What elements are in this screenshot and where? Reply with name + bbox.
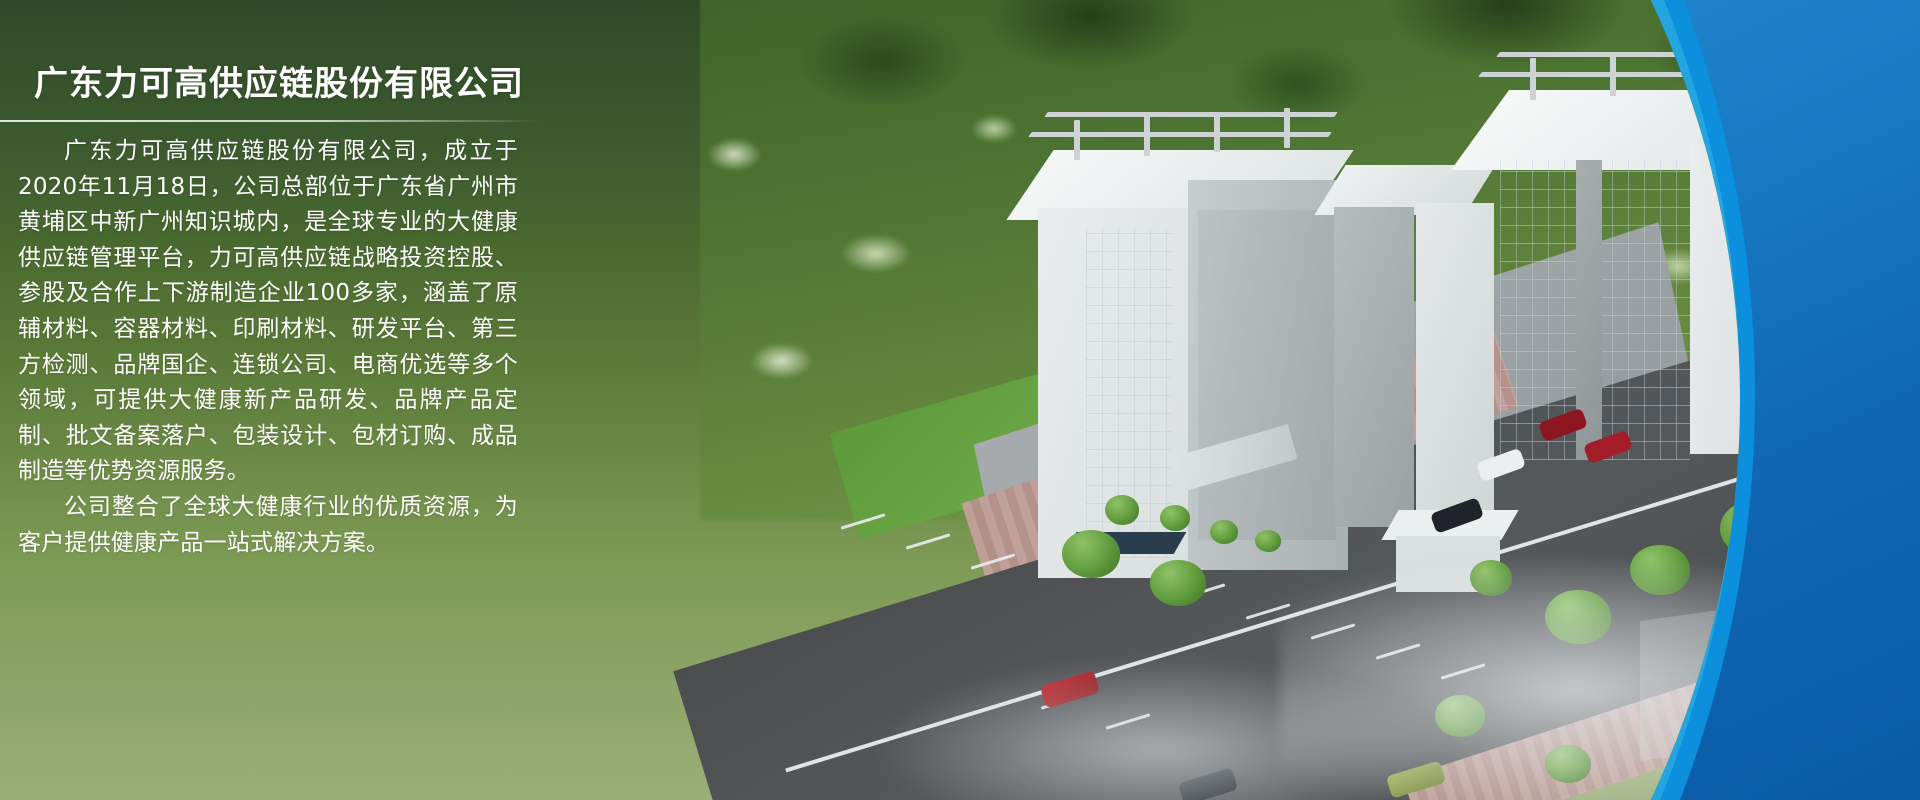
page-title: 广东力可高供应链股份有限公司 [34,56,524,105]
tree [1210,520,1238,544]
body-copy: 广东力可高供应链股份有限公司，成立于2020年11月18日，公司总部位于广东省广… [18,134,518,561]
roof-truss [1530,58,1536,100]
mist-overlay [880,660,1440,800]
tree [1062,530,1120,578]
building-c-side-face [1690,144,1740,454]
title-divider [0,120,540,122]
roof-truss [1044,112,1337,117]
roof-truss [1214,112,1220,152]
roof-truss [1690,50,1696,92]
building-a [1030,150,1360,580]
paragraph-2: 公司整合了全球大健康行业的优质资源，为客户提供健康产品一站式解决方案。 [18,490,518,561]
tree [1160,505,1190,531]
background-building [1700,20,1740,170]
building-b-face [1334,207,1414,527]
roof-truss [1284,108,1290,148]
tree [1105,495,1139,525]
building-a-side-windows [1198,210,1336,540]
paragraph-1: 广东力可高供应链股份有限公司，成立于2020年11月18日，公司总部位于广东省广… [18,134,518,490]
text-column: 广东力可高供应链股份有限公司 广东力可高供应链股份有限公司，成立于2020年11… [0,0,560,800]
roof-truss [1144,116,1150,156]
banner-root: 广东力可高供应链股份有限公司 广东力可高供应链股份有限公司，成立于2020年11… [0,0,1920,800]
tree [1255,530,1281,552]
roof-truss [1074,120,1080,160]
tree [1150,560,1206,606]
roof-truss [1610,54,1616,96]
